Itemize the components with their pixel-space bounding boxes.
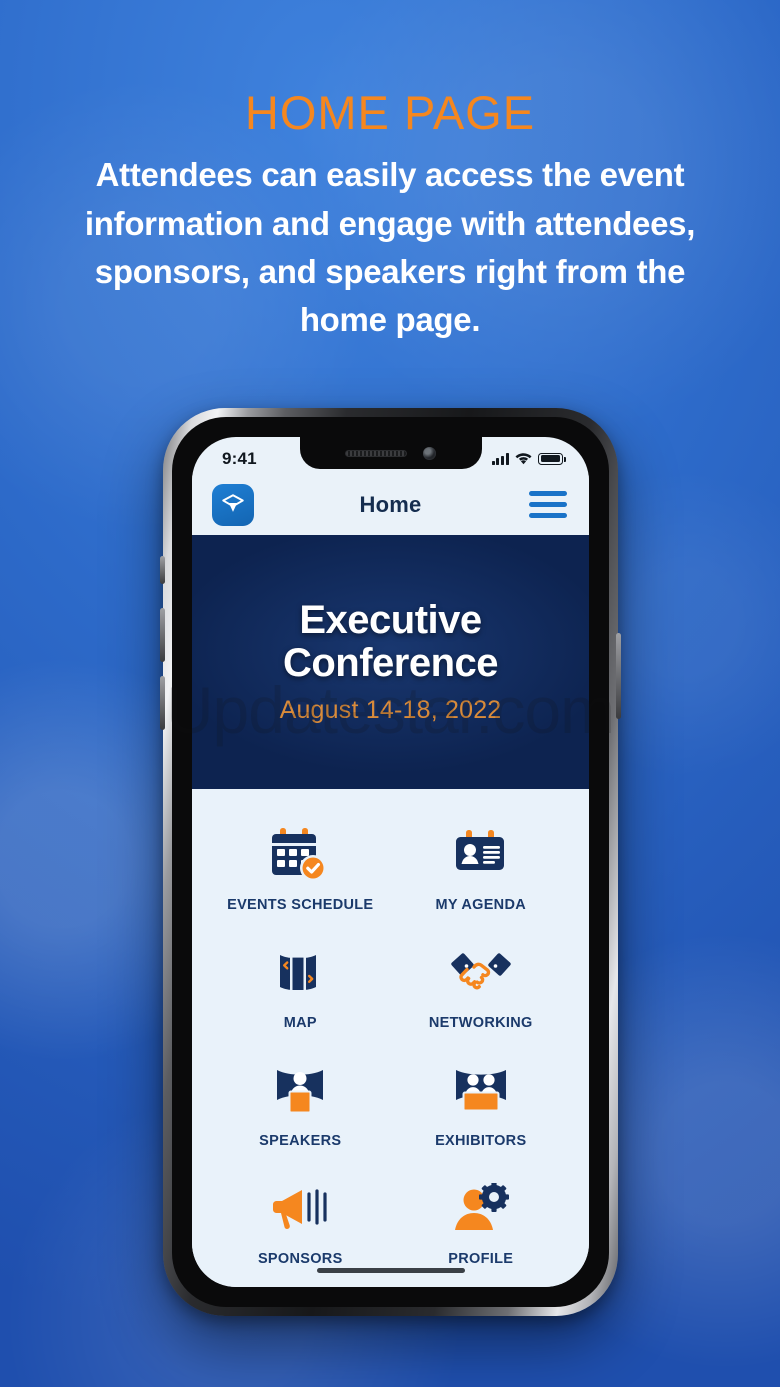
phone-notch [300, 437, 482, 469]
phone-bezel: 9:41 [172, 417, 609, 1307]
tile-my-agenda[interactable]: MY AGENDA [391, 815, 572, 923]
megaphone-icon [270, 1177, 330, 1241]
tile-networking[interactable]: NETWORKING [391, 933, 572, 1041]
calendar-check-icon [269, 823, 331, 887]
wifi-icon [515, 452, 532, 465]
home-menu-grid: EVENTS SCHEDULE [192, 789, 589, 1287]
event-name: Executive Conference [283, 599, 498, 685]
volume-up-button[interactable] [160, 608, 165, 662]
user-gear-icon [452, 1177, 510, 1241]
tile-events-schedule[interactable]: EVENTS SCHEDULE [210, 815, 391, 923]
tile-label: SPONSORS [258, 1251, 343, 1267]
mute-switch[interactable] [160, 556, 165, 584]
status-bar-clock: 9:41 [222, 449, 257, 469]
tile-speakers[interactable]: SPEAKERS [210, 1051, 391, 1159]
speaker-podium-icon [271, 1059, 329, 1123]
app-logo-icon[interactable] [212, 484, 254, 526]
tile-sponsors[interactable]: SPONSORS [210, 1169, 391, 1277]
phone-mockup: 9:41 [163, 408, 618, 1316]
hamburger-menu-icon[interactable] [527, 491, 567, 518]
power-button[interactable] [616, 633, 621, 719]
id-badge-icon [450, 823, 512, 887]
tile-label: EVENTS SCHEDULE [227, 897, 373, 913]
tile-label: EXHIBITORS [435, 1133, 526, 1149]
app-bar-title: Home [360, 492, 422, 518]
event-hero-banner: Executive Conference August 14-18, 2022 [192, 535, 589, 789]
tile-label: NETWORKING [429, 1015, 533, 1031]
signal-bars-icon [492, 453, 509, 465]
handshake-icon [450, 941, 512, 1005]
home-indicator[interactable] [317, 1268, 465, 1274]
app-header: Home [192, 475, 589, 535]
tile-label: MY AGENDA [435, 897, 526, 913]
battery-full-icon [538, 453, 563, 465]
front-camera-icon [423, 447, 436, 460]
event-name-line1: Executive [299, 598, 481, 642]
tile-exhibitors[interactable]: EXHIBITORS [391, 1051, 572, 1159]
event-name-line2: Conference [283, 641, 498, 685]
page-title: HOME PAGE [0, 88, 780, 137]
exhibitor-booth-icon [452, 1059, 510, 1123]
earpiece-speaker-icon [345, 450, 407, 457]
tile-profile[interactable]: PROFILE [391, 1169, 572, 1277]
phone-screen: 9:41 [192, 437, 589, 1287]
promo-description: Attendees can easily access the event in… [0, 151, 780, 344]
folded-map-icon [272, 941, 328, 1005]
event-dates: August 14-18, 2022 [280, 696, 502, 725]
tile-label: MAP [284, 1015, 317, 1031]
volume-down-button[interactable] [160, 676, 165, 730]
tile-map[interactable]: MAP [210, 933, 391, 1041]
promo-headline-block: HOME PAGE Attendees can easily access th… [0, 88, 780, 344]
tile-label: PROFILE [448, 1251, 513, 1267]
tile-label: SPEAKERS [259, 1133, 341, 1149]
